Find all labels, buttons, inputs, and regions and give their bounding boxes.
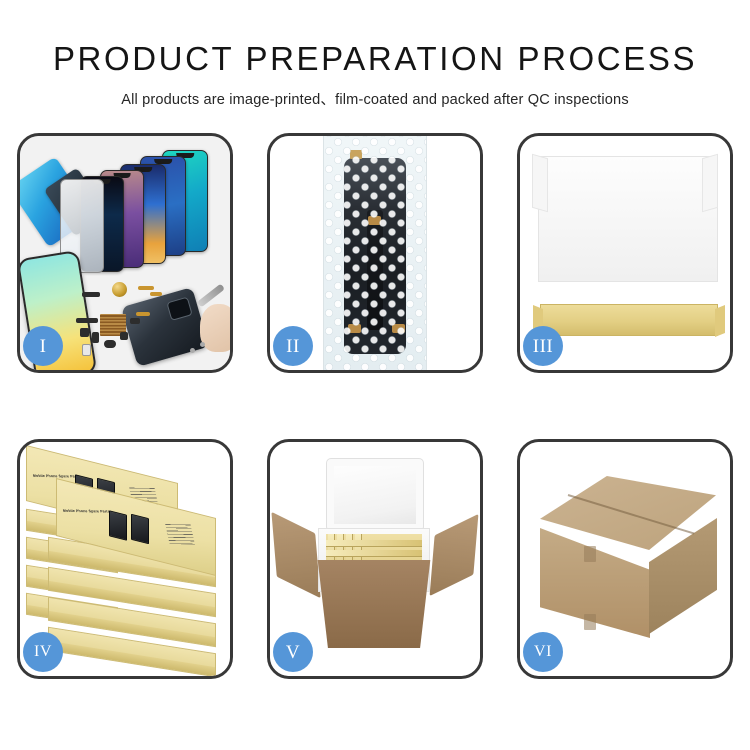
component-icon: [92, 332, 99, 343]
flex-cable-icon: [150, 292, 162, 296]
component-icon: [130, 318, 140, 324]
component-icon: [76, 318, 98, 323]
sim-tray-icon: [82, 344, 91, 356]
page-subtitle: All products are image-printed、film-coat…: [0, 88, 750, 109]
packed-box: [326, 550, 422, 557]
component-icon: [82, 292, 100, 297]
tape-strip-icon: [584, 614, 596, 630]
component-icon: [104, 340, 116, 348]
step-badge-1: I: [23, 326, 63, 366]
carton-flap-right-icon: [430, 514, 479, 596]
step-card-4[interactable]: Mobile Phone Spare Parts Mobile Phone Sp…: [17, 439, 233, 679]
foam-lid-icon: [326, 458, 424, 532]
step-badge-5: V: [273, 632, 313, 672]
process-step-grid: I II III: [0, 133, 750, 687]
bubble-bag-icon: [323, 136, 427, 370]
box-flap-icon: [702, 154, 718, 213]
step-card-6[interactable]: VI: [517, 439, 733, 679]
page-title: PRODUCT PREPARATION PROCESS: [0, 42, 750, 75]
screw-icon: [200, 342, 205, 347]
packed-box: [326, 540, 422, 547]
step-badge-2: II: [273, 326, 313, 366]
screw-icon: [190, 348, 195, 353]
kraft-tray-icon: [540, 304, 718, 336]
component-icon: [80, 328, 89, 337]
box-face: [49, 641, 215, 676]
flex-cable-icon: [138, 286, 154, 290]
step-badge-4: IV: [23, 632, 63, 672]
flex-cable-icon: [136, 312, 150, 316]
step-card-5[interactable]: V: [267, 439, 483, 679]
white-box-lid-icon: [538, 156, 718, 282]
carton-flap-left-icon: [271, 512, 320, 598]
step-card-1[interactable]: I: [17, 133, 233, 373]
step-card-3[interactable]: III: [517, 133, 733, 373]
speaker-coin-icon: [112, 282, 127, 297]
box-flap-icon: [532, 154, 548, 213]
step-badge-3: III: [523, 326, 563, 366]
component-icon: [120, 332, 128, 340]
carton-body-icon: [310, 560, 438, 648]
box-label-text: Mobile Phone Spare Parts: [63, 509, 111, 514]
tape-strip-icon: [584, 546, 596, 562]
step-card-2[interactable]: II: [267, 133, 483, 373]
page-header: PRODUCT PREPARATION PROCESS All products…: [0, 0, 750, 109]
step-badge-6: VI: [523, 632, 563, 672]
bubble-texture-icon: [324, 136, 426, 370]
screen-print-icon: [109, 510, 127, 540]
screen-print-icon: [131, 514, 149, 544]
spec-lines-icon: [165, 523, 195, 544]
phone-housing-icon: [121, 287, 209, 367]
